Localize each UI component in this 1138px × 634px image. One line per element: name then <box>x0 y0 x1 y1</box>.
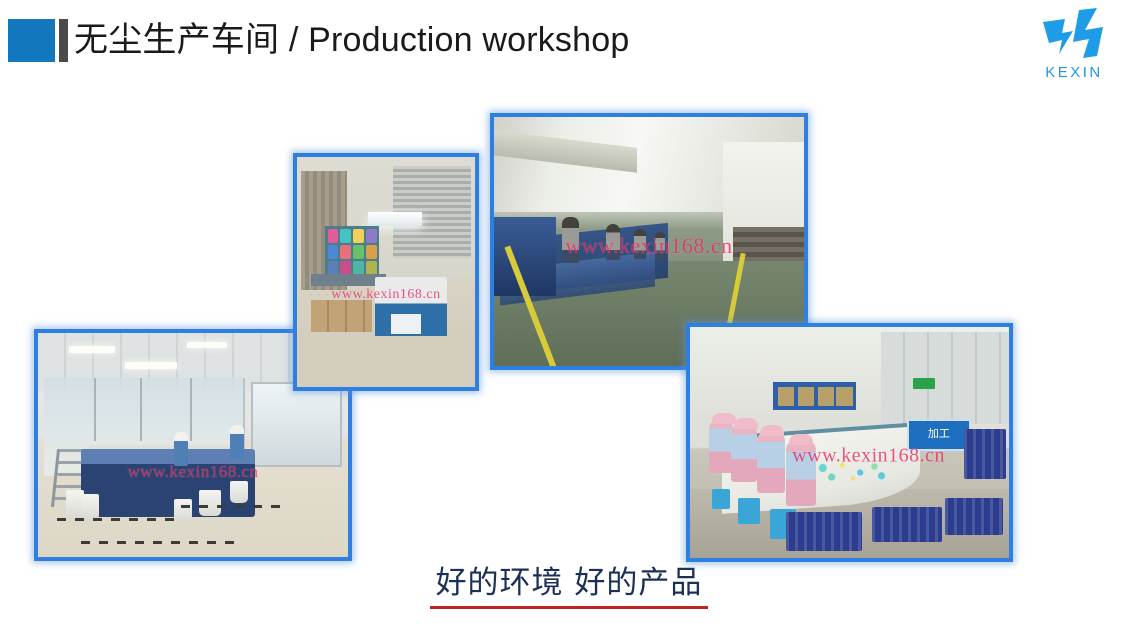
slide-header: 无尘生产车间 / Production workshop KEXIN <box>0 0 1138 92</box>
photo-image-packing-station: www.kexin168.cn <box>297 157 475 387</box>
slide-footer: 好的环境 好的产品 <box>0 562 1138 609</box>
page-title-separator: / <box>279 21 308 59</box>
page-title: 无尘生产车间 / Production workshop <box>74 17 629 63</box>
header-accent-block <box>8 19 55 62</box>
logo-wordmark: KEXIN <box>1026 64 1122 81</box>
page-title-en: Production workshop <box>308 21 629 59</box>
workstation-sign: 加工 <box>907 419 971 451</box>
photo-assembly-workbench-row[interactable]: 加工 www.kexin168.cn <box>686 323 1013 562</box>
header-divider-bar <box>59 19 68 62</box>
photo-packing-station[interactable]: www.kexin168.cn <box>293 153 479 391</box>
slide-canvas: 无尘生产车间 / Production workshop KEXIN <box>0 0 1138 634</box>
company-logo: KEXIN <box>1026 6 1122 94</box>
footer-slogan: 好的环境 好的产品 <box>430 562 709 609</box>
photo-image-assembly-workbench-row: 加工 www.kexin168.cn <box>690 327 1009 558</box>
kexin-logo-mark <box>1035 6 1113 62</box>
emergency-exit-sign <box>913 378 935 389</box>
page-title-cn: 无尘生产车间 <box>74 20 279 60</box>
